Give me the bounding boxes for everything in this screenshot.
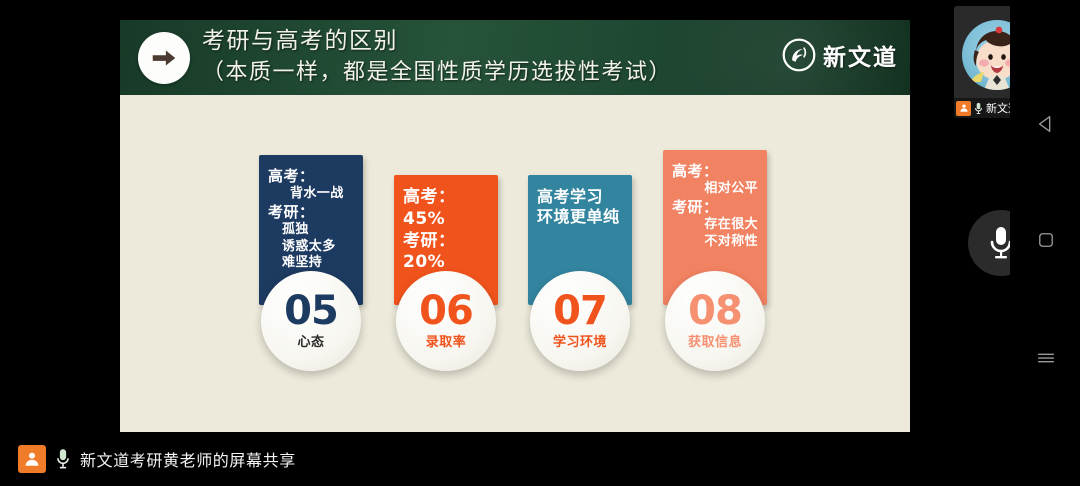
card-08-line-5: 不对称性 — [672, 234, 758, 251]
card-08-line-1: 高考： — [672, 162, 758, 181]
card-08-line-2: 相对公平 — [672, 181, 758, 198]
arrow-right-icon — [138, 32, 190, 84]
app-screen: 考研与高考的区别 （本质一样，都是全国性质学历选拔性考试） 新文道 高考： 背水… — [0, 0, 1080, 486]
badge-08: 08 获取信息 — [665, 271, 765, 371]
slide-title-line2: （本质一样，都是全国性质学历选拔性考试） — [202, 57, 672, 88]
card-07-line-2: 环境更单纯 — [537, 207, 623, 227]
card-05-line-1: 高考： — [268, 167, 354, 186]
hamburger-recents-icon[interactable] — [1032, 344, 1060, 372]
card-05-line-2: 背水一战 — [268, 186, 354, 203]
card-07-line-1: 高考学习 — [537, 187, 623, 207]
square-home-icon[interactable] — [1032, 226, 1060, 254]
badge-06: 06 录取率 — [396, 271, 496, 371]
phoenix-swirl-icon — [782, 38, 816, 72]
badge-05-label: 心态 — [297, 331, 324, 350]
badge-05: 05 心态 — [261, 271, 361, 371]
triangle-back-icon[interactable] — [1032, 110, 1060, 138]
badge-05-number: 05 — [284, 292, 338, 330]
card-08-line-4: 存在很大 — [672, 217, 758, 234]
brand-name: 新文道 — [823, 38, 898, 72]
card-05-line-5: 诱惑太多 — [268, 239, 354, 256]
badge-08-label: 获取信息 — [688, 331, 742, 350]
android-nav-rail — [1010, 0, 1080, 486]
screen-share-status-bar: 新文道考研黄老师的屏幕共享 — [0, 432, 1010, 486]
person-icon — [18, 445, 46, 473]
badge-07-number: 07 — [553, 292, 607, 330]
badge-07-label: 学习环境 — [553, 331, 607, 350]
brand-logo: 新文道 — [782, 38, 898, 72]
slide-title-line1: 考研与高考的区别 — [202, 26, 672, 57]
badge-07: 07 学习环境 — [530, 271, 630, 371]
page-title: 考研与高考的区别 （本质一样，都是全国性质学历选拔性考试） — [202, 26, 672, 88]
card-05-line-3: 考研： — [268, 203, 354, 222]
card-06-line-2: 考研：20% — [403, 231, 489, 275]
microphone-icon — [974, 102, 983, 115]
person-icon — [956, 101, 971, 116]
card-05-line-4: 孤独 — [268, 222, 354, 239]
badge-06-label: 录取率 — [426, 331, 467, 350]
slide-header: 考研与高考的区别 （本质一样，都是全国性质学历选拔性考试） 新文道 — [120, 20, 910, 95]
card-06-line-1: 高考：45% — [403, 187, 489, 231]
card-05-line-6: 难坚持 — [268, 255, 354, 272]
share-status-label: 新文道考研黄老师的屏幕共享 — [80, 447, 296, 471]
shared-screen-slide[interactable]: 考研与高考的区别 （本质一样，都是全国性质学历选拔性考试） 新文道 高考： 背水… — [120, 20, 910, 432]
microphone-icon — [55, 448, 71, 470]
card-08-line-3: 考研： — [672, 198, 758, 217]
slide-body: 高考： 背水一战 考研： 孤独 诱惑太多 难坚持 高考：45% 考研：20% 高… — [120, 95, 910, 432]
badge-08-number: 08 — [688, 292, 742, 330]
badge-06-number: 06 — [419, 292, 473, 330]
